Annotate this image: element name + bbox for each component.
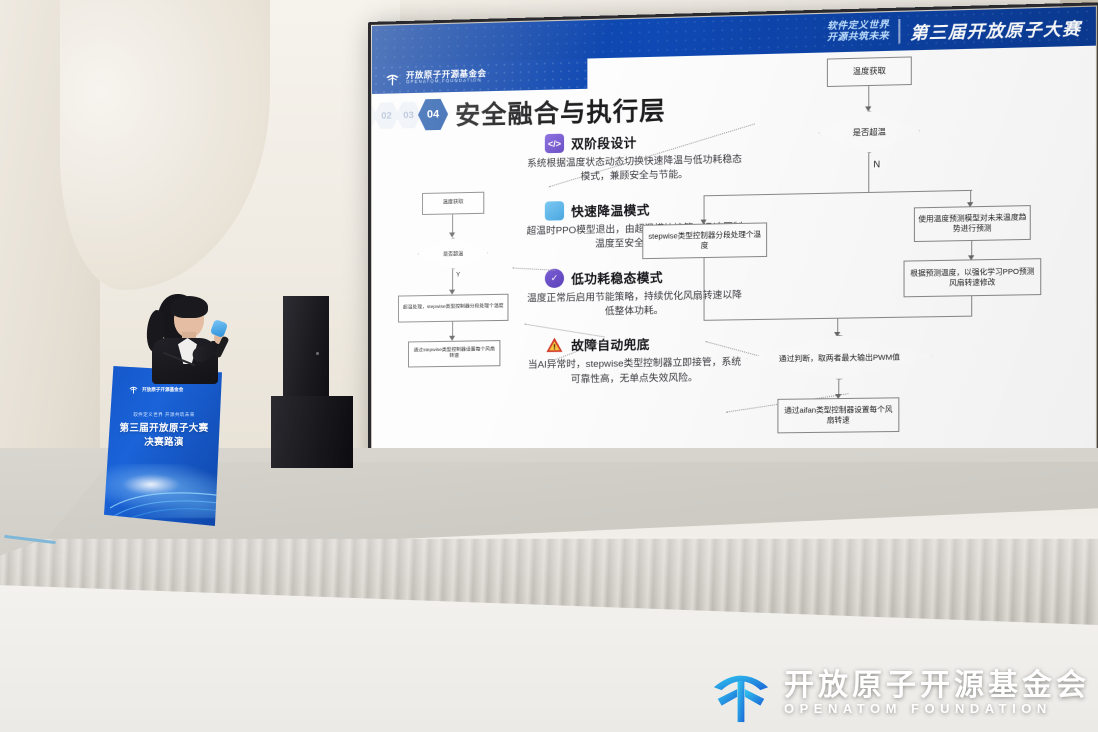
podium-title-line1: 第三届开放原子大赛 bbox=[114, 422, 214, 436]
openatom-logo-icon bbox=[128, 384, 139, 395]
presenter-fringe bbox=[170, 296, 208, 318]
podium-logo-text: 开放原子开源基金会 bbox=[142, 387, 183, 393]
watermark-logo: 开放原子开源基金会 OPENATOM FOUNDATION bbox=[710, 662, 1090, 724]
watermark-name-en: OPENATOM FOUNDATION bbox=[784, 702, 1090, 716]
pa-speaker-led-icon bbox=[316, 352, 319, 355]
podium-title-line2: 决赛路演 bbox=[114, 436, 214, 450]
pa-speaker-base bbox=[271, 396, 353, 468]
podium-slogan: 软件定义世界 开源共筑未来 bbox=[118, 412, 210, 418]
microphone-head-icon bbox=[210, 319, 228, 338]
podium-arc-graphic bbox=[110, 478, 222, 524]
podium-logo: 开放原子开源基金会 bbox=[128, 384, 183, 395]
led-screen-frame bbox=[368, 2, 1098, 484]
podium: 开放原子开源基金会 软件定义世界 开源共筑未来 第三届开放原子大赛 决赛路演 bbox=[104, 366, 222, 526]
watermark-name-cn: 开放原子开源基金会 bbox=[784, 669, 1090, 702]
podium-title: 第三届开放原子大赛 决赛路演 bbox=[114, 422, 214, 450]
presenter bbox=[140, 288, 236, 380]
watermark-text: 开放原子开源基金会 OPENATOM FOUNDATION bbox=[784, 669, 1090, 716]
openatom-mark-icon bbox=[710, 662, 772, 724]
presentation-photo-scene: 软件定义世界 开源共筑未来 第三届开放原子大赛 开放 bbox=[0, 0, 1098, 732]
